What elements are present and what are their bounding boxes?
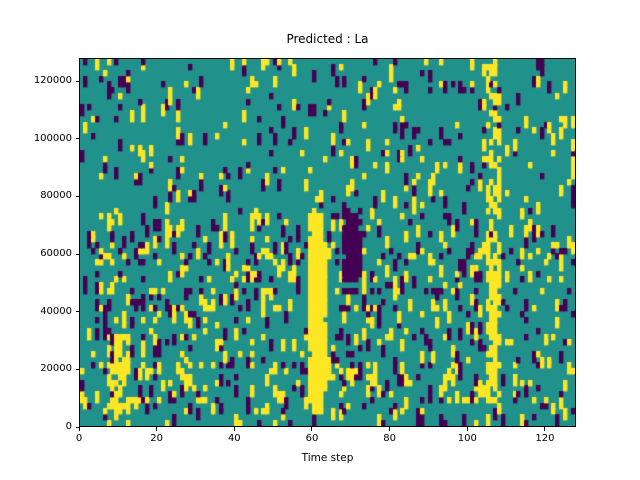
y-tick-label: 120000: [34, 75, 72, 87]
x-tick-mark: [79, 427, 80, 431]
x-tick-mark: [389, 427, 390, 431]
heatmap-axes: [79, 58, 576, 427]
y-tick-mark: [76, 311, 80, 312]
x-tick-mark: [467, 427, 468, 431]
y-tick-label: 100000: [34, 133, 72, 145]
x-tick-label: 120: [535, 433, 554, 445]
y-tick-mark: [76, 427, 80, 428]
y-tick-mark: [76, 254, 80, 255]
y-tick-label: 60000: [40, 248, 72, 260]
x-tick-mark: [544, 427, 545, 431]
y-tick-label: 20000: [40, 363, 72, 375]
x-tick-mark: [156, 427, 157, 431]
x-tick-label: 0: [76, 433, 82, 445]
x-tick-label: 60: [306, 433, 319, 445]
y-tick-mark: [76, 138, 80, 139]
heatmap-image: [80, 59, 575, 426]
y-tick-label: 0: [66, 421, 72, 433]
y-tick-mark: [76, 369, 80, 370]
page-title: Predicted : La: [79, 32, 576, 46]
x-tick-label: 80: [383, 433, 396, 445]
y-tick-mark: [76, 196, 80, 197]
y-tick-label: 80000: [40, 190, 72, 202]
figure-canvas: Predicted : La 020406080100120 020000400…: [0, 0, 640, 480]
x-axis-label: Time step: [79, 452, 576, 464]
y-tick-mark: [76, 81, 80, 82]
x-tick-mark: [234, 427, 235, 431]
x-tick-label: 100: [458, 433, 477, 445]
x-tick-label: 20: [150, 433, 163, 445]
y-tick-label: 40000: [40, 306, 72, 318]
x-tick-mark: [311, 427, 312, 431]
x-tick-label: 40: [228, 433, 241, 445]
